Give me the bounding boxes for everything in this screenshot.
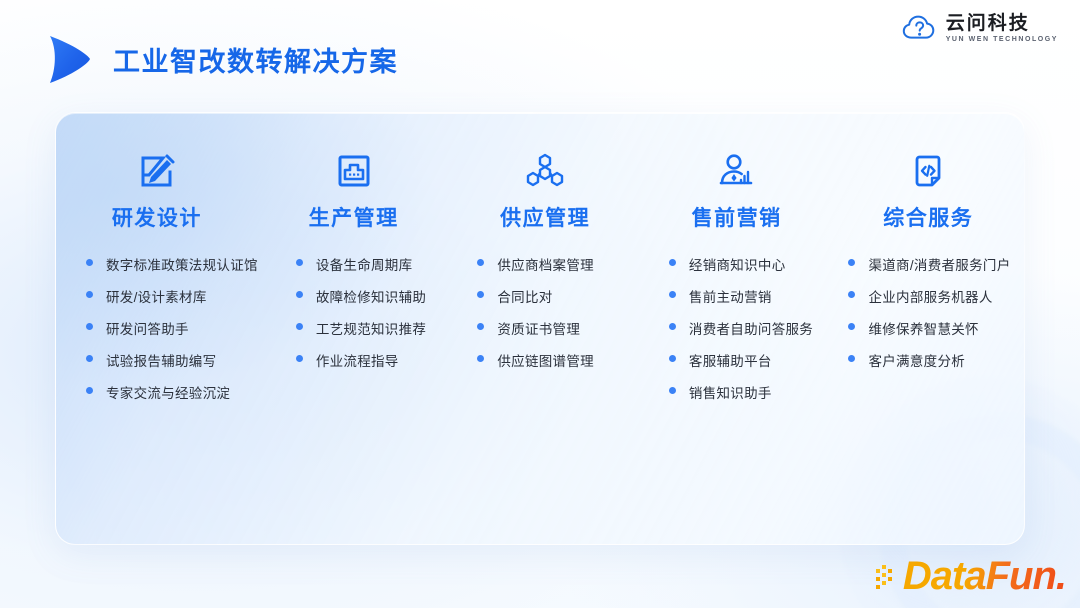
list-item-label: 资质证书管理	[497, 318, 580, 338]
list-item: 供应商档案管理	[477, 254, 641, 286]
hexagon-network-icon	[523, 149, 567, 193]
bullet-icon	[296, 291, 303, 298]
slide-canvas: 工业智改数转解决方案 云问科技 YUN WEN TECHNOLOGY	[0, 0, 1080, 608]
column-item-list: 渠道商/消费者服务门户 企业内部服务机器人 维修保养智慧关怀 客户满意度分析	[832, 254, 1024, 382]
list-item: 销售知识助手	[669, 382, 833, 414]
column-title: 售前营销	[692, 202, 782, 232]
list-item-label: 客户满意度分析	[868, 350, 965, 370]
pencil-square-icon	[135, 149, 179, 193]
brand-logo: 云问科技 YUN WEN TECHNOLOGY	[902, 13, 1058, 43]
list-item-label: 维修保养智慧关怀	[868, 318, 978, 338]
list-item-label: 研发问答助手	[106, 318, 189, 338]
list-item-label: 企业内部服务机器人	[868, 286, 992, 306]
list-item-label: 数字标准政策法规认证馆	[106, 254, 258, 274]
column-item-list: 供应商档案管理 合同比对 资质证书管理 供应链图谱管理	[449, 254, 641, 382]
column-presales-marketing: 售前营销 经销商知识中心 售前主动营销 消费者自助问答服务 客服辅助平台 销售知…	[641, 149, 833, 544]
column-title: 研发设计	[112, 202, 202, 232]
bullet-icon	[669, 355, 676, 362]
list-item-label: 故障检修知识辅助	[316, 286, 426, 306]
list-item: 工艺规范知识推荐	[296, 318, 450, 350]
list-item: 研发/设计素材库	[86, 286, 258, 318]
list-item-label: 经销商知识中心	[689, 254, 786, 274]
brand-name-en: YUN WEN TECHNOLOGY	[946, 36, 1058, 43]
column-title: 供应管理	[500, 202, 590, 232]
bullet-icon	[86, 291, 93, 298]
list-item: 研发问答助手	[86, 318, 258, 350]
bullet-icon	[848, 259, 855, 266]
solution-card: 研发设计 数字标准政策法规认证馆 研发/设计素材库 研发问答助手 试验报告辅助编…	[55, 112, 1025, 545]
list-item: 资质证书管理	[477, 318, 641, 350]
list-item: 维修保养智慧关怀	[848, 318, 1024, 350]
bullet-icon	[669, 323, 676, 330]
list-item: 数字标准政策法规认证馆	[86, 254, 258, 286]
slide-header: 工业智改数转解决方案 云问科技 YUN WEN TECHNOLOGY	[0, 0, 1080, 105]
list-item-label: 试验报告辅助编写	[106, 350, 216, 370]
list-item-label: 消费者自助问答服务	[689, 318, 813, 338]
bullet-icon	[848, 291, 855, 298]
list-item: 企业内部服务机器人	[848, 286, 1024, 318]
list-item: 客服辅助平台	[669, 350, 833, 382]
list-item-label: 设备生命周期库	[316, 254, 413, 274]
column-title: 生产管理	[309, 202, 399, 232]
person-chart-icon	[715, 149, 759, 193]
list-item-label: 供应商档案管理	[497, 254, 594, 274]
column-item-list: 设备生命周期库 故障检修知识辅助 工艺规范知识推荐 作业流程指导	[258, 254, 450, 382]
list-item-label: 渠道商/消费者服务门户	[868, 254, 1010, 274]
bullet-icon	[669, 259, 676, 266]
list-item-label: 专家交流与经验沉淀	[106, 382, 230, 402]
list-item: 专家交流与经验沉淀	[86, 382, 258, 414]
bullet-icon	[669, 387, 676, 394]
brand-name-cn: 云问科技	[946, 14, 1058, 33]
list-item-label: 售前主动营销	[689, 286, 772, 306]
play-arrow-icon	[44, 33, 92, 85]
list-item: 经销商知识中心	[669, 254, 833, 286]
list-item-label: 合同比对	[497, 286, 552, 306]
bullet-icon	[848, 323, 855, 330]
list-item: 客户满意度分析	[848, 350, 1024, 382]
list-item-label: 供应链图谱管理	[497, 350, 594, 370]
list-item: 设备生命周期库	[296, 254, 450, 286]
solution-columns: 研发设计 数字标准政策法规认证馆 研发/设计素材库 研发问答助手 试验报告辅助编…	[56, 113, 1024, 544]
column-item-list: 数字标准政策法规认证馆 研发/设计素材库 研发问答助手 试验报告辅助编写 专家交…	[56, 254, 258, 414]
list-item: 故障检修知识辅助	[296, 286, 450, 318]
list-item-label: 销售知识助手	[689, 382, 772, 402]
bullet-icon	[296, 355, 303, 362]
bullet-icon	[477, 291, 484, 298]
list-item: 供应链图谱管理	[477, 350, 641, 382]
bullet-icon	[848, 355, 855, 362]
column-supply-management: 供应管理 供应商档案管理 合同比对 资质证书管理 供应链图谱管理	[449, 149, 641, 544]
list-item: 消费者自助问答服务	[669, 318, 833, 350]
list-item-label: 作业流程指导	[316, 350, 399, 370]
list-item-label: 工艺规范知识推荐	[316, 318, 426, 338]
datafun-logo: DataFun.	[874, 556, 1066, 596]
bullet-icon	[296, 259, 303, 266]
datafun-wordmark: DataFun.	[903, 556, 1066, 596]
bullet-icon	[477, 355, 484, 362]
column-rd-design: 研发设计 数字标准政策法规认证馆 研发/设计素材库 研发问答助手 试验报告辅助编…	[56, 149, 258, 544]
datafun-pixels-icon	[874, 561, 900, 591]
column-title: 综合服务	[883, 202, 973, 232]
list-item-label: 研发/设计素材库	[106, 286, 207, 306]
list-item: 合同比对	[477, 286, 641, 318]
bullet-icon	[669, 291, 676, 298]
bullet-icon	[86, 323, 93, 330]
bullet-icon	[86, 387, 93, 394]
list-item-label: 客服辅助平台	[689, 350, 772, 370]
bullet-icon	[86, 259, 93, 266]
list-item: 试验报告辅助编写	[86, 350, 258, 382]
list-item: 作业流程指导	[296, 350, 450, 382]
bullet-icon	[477, 259, 484, 266]
bullet-icon	[86, 355, 93, 362]
column-item-list: 经销商知识中心 售前主动营销 消费者自助问答服务 客服辅助平台 销售知识助手	[641, 254, 833, 414]
column-production-management: 生产管理 设备生命周期库 故障检修知识辅助 工艺规范知识推荐 作业流程指导	[258, 149, 450, 544]
bullet-icon	[296, 323, 303, 330]
list-item: 渠道商/消费者服务门户	[848, 254, 1024, 286]
list-item: 售前主动营销	[669, 286, 833, 318]
cloud-question-logo-icon	[902, 13, 936, 43]
page-title: 工业智改数转解决方案	[113, 40, 398, 79]
column-comprehensive-service: 综合服务 渠道商/消费者服务门户 企业内部服务机器人 维修保养智慧关怀 客户满意…	[832, 149, 1024, 544]
bullet-icon	[477, 323, 484, 330]
code-document-icon	[906, 149, 950, 193]
factory-square-icon	[332, 149, 376, 193]
